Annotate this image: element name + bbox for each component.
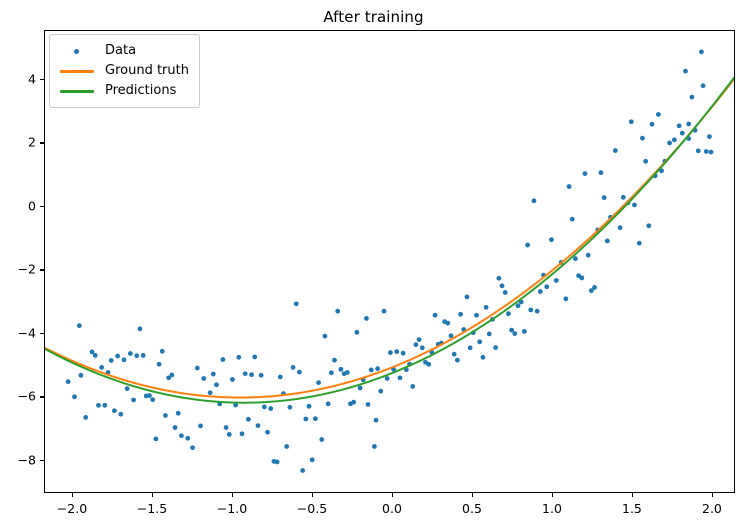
x-tick-label: 2.0	[702, 501, 722, 516]
y-tick-label: −4	[6, 325, 36, 340]
x-tick-label: 0.5	[462, 501, 482, 516]
x-tick-mark	[632, 493, 633, 497]
x-tick-mark	[552, 493, 553, 497]
y-tick-label: 0	[6, 198, 36, 213]
y-tick-mark	[40, 142, 44, 143]
y-tick-mark	[40, 79, 44, 80]
x-tick-label: 1.5	[622, 501, 642, 516]
x-tick-label: −1.5	[137, 501, 167, 516]
x-tick-mark	[232, 493, 233, 497]
y-tick-mark	[40, 269, 44, 270]
x-tick-mark	[152, 493, 153, 497]
y-tick-mark	[40, 206, 44, 207]
x-tick-mark	[712, 493, 713, 497]
x-tick-mark	[72, 493, 73, 497]
x-tick-label: 1.0	[542, 501, 562, 516]
axis-tick-layer: 420−2−4−6−8−2.0−1.5−1.0−0.50.00.51.01.52…	[0, 0, 747, 528]
y-tick-label: 2	[6, 135, 36, 150]
x-tick-mark	[472, 493, 473, 497]
y-tick-label: −8	[6, 452, 36, 467]
y-tick-mark	[40, 460, 44, 461]
x-tick-mark	[392, 493, 393, 497]
x-tick-mark	[312, 493, 313, 497]
y-tick-mark	[40, 396, 44, 397]
x-tick-label: 0.0	[382, 501, 402, 516]
y-tick-label: −2	[6, 262, 36, 277]
matplotlib-figure: After training Data Ground truth Predic	[0, 0, 747, 528]
y-tick-label: 4	[6, 71, 36, 86]
y-tick-label: −6	[6, 389, 36, 404]
x-tick-label: −0.5	[297, 501, 327, 516]
x-tick-label: −2.0	[57, 501, 87, 516]
y-tick-mark	[40, 333, 44, 334]
x-tick-label: −1.0	[217, 501, 247, 516]
